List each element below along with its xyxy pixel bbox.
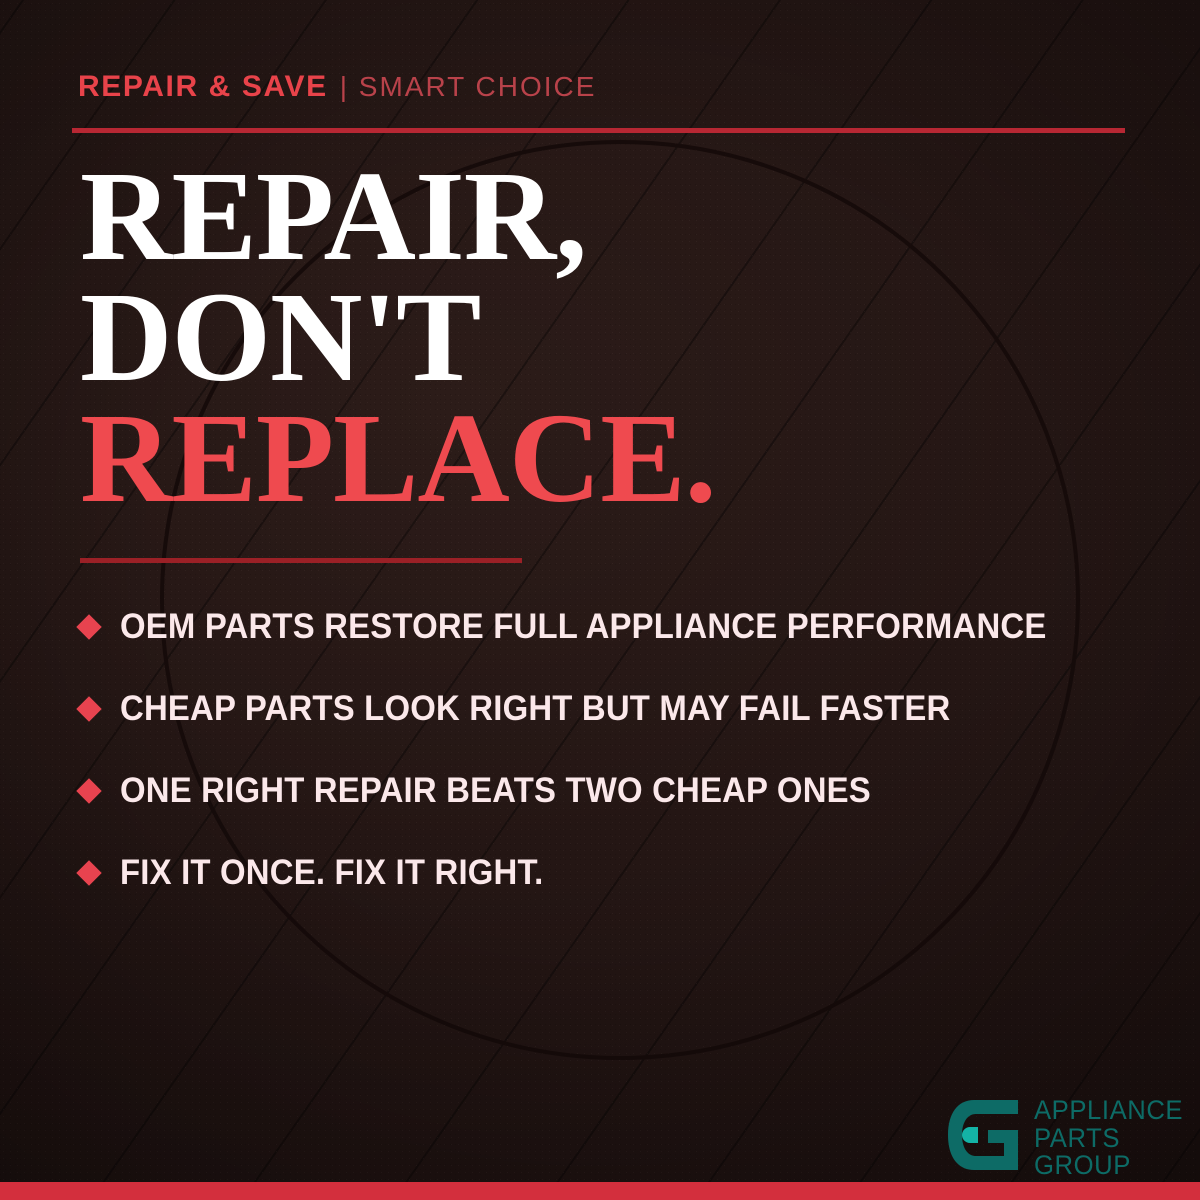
headline-divider-rule bbox=[80, 558, 522, 563]
list-item: CHEAP PARTS LOOK RIGHT BUT MAY FAIL FAST… bbox=[80, 668, 1150, 750]
brand-logo-line-1: APPLIANCE bbox=[1034, 1097, 1183, 1125]
diamond-bullet-icon bbox=[76, 860, 101, 885]
poster-content: REPAIR & SAVE| SMART CHOICE REPAIR, DON'… bbox=[0, 0, 1200, 1200]
kicker-main-text: REPAIR & SAVE bbox=[78, 70, 328, 103]
list-item-label: CHEAP PARTS LOOK RIGHT BUT MAY FAIL FAST… bbox=[120, 689, 950, 729]
list-item-label: OEM PARTS RESTORE FULL APPLIANCE PERFORM… bbox=[120, 607, 1046, 647]
brand-logo-wordmark: APPLIANCE PARTS GROUP bbox=[1034, 1096, 1183, 1180]
headline-line-1: REPAIR, bbox=[80, 156, 716, 277]
page-title: REPAIR, DON'T REPLACE. bbox=[80, 156, 716, 519]
brand-logo-line-2: PARTS bbox=[1034, 1125, 1183, 1153]
headline-line-2: DON'T bbox=[80, 277, 716, 398]
benefits-list: OEM PARTS RESTORE FULL APPLIANCE PERFORM… bbox=[80, 586, 1150, 914]
kicker-eyebrow: REPAIR & SAVE| SMART CHOICE bbox=[78, 72, 596, 102]
list-item: ONE RIGHT REPAIR BEATS TWO CHEAP ONES bbox=[80, 750, 1150, 832]
headline-line-3: REPLACE. bbox=[80, 398, 716, 519]
brand-logo: APPLIANCE PARTS GROUP bbox=[944, 1096, 1191, 1180]
diamond-bullet-icon bbox=[76, 614, 101, 639]
list-item-label: FIX IT ONCE. FIX IT RIGHT. bbox=[120, 853, 543, 893]
bottom-accent-bar bbox=[0, 1182, 1200, 1200]
list-item: FIX IT ONCE. FIX IT RIGHT. bbox=[80, 832, 1150, 914]
list-item-label: ONE RIGHT REPAIR BEATS TWO CHEAP ONES bbox=[120, 771, 871, 811]
promotional-poster: REPAIR & SAVE| SMART CHOICE REPAIR, DON'… bbox=[0, 0, 1200, 1200]
kicker-sub-text: | SMART CHOICE bbox=[340, 71, 597, 102]
list-item: OEM PARTS RESTORE FULL APPLIANCE PERFORM… bbox=[80, 586, 1150, 668]
header-divider-rule bbox=[72, 128, 1125, 133]
brand-logo-line-3: GROUP bbox=[1034, 1152, 1183, 1180]
diamond-bullet-icon bbox=[76, 696, 101, 721]
diamond-bullet-icon bbox=[76, 778, 101, 803]
appliance-parts-group-g-monogram-icon bbox=[944, 1096, 1022, 1174]
